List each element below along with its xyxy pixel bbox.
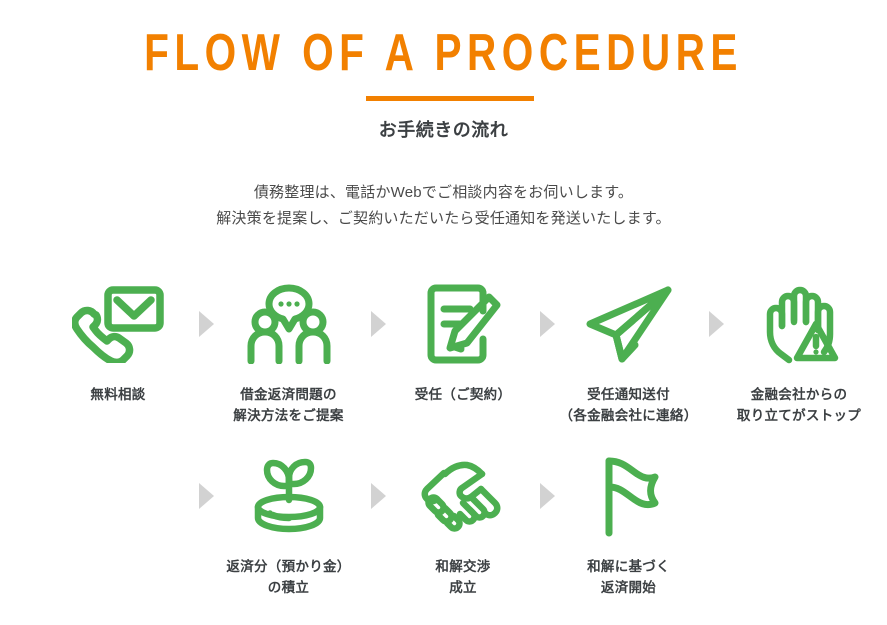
flow-step-send-notice: 受任通知送付 （各金融会社に連絡） — [556, 278, 701, 426]
flow-step-label: 借金返済問題の 解決方法をご提案 — [216, 384, 361, 426]
lead-paragraph: 債務整理は、電話かWebでご相談内容をお伺いします。 解決策を提案し、ご契約いた… — [0, 180, 887, 232]
flow-arrow-6 — [371, 483, 386, 509]
flow-arrow-5 — [199, 483, 214, 509]
sprout-pot-icon — [216, 450, 361, 542]
flow-step-label: 和解交渉 成立 — [396, 556, 530, 598]
lead-line-2: 解決策を提案し、ご契約いただいたら受任通知を発送いたします。 — [0, 206, 887, 232]
flow-arrow-4 — [709, 311, 724, 337]
flow-arrow-7 — [540, 483, 555, 509]
flow-step-repayment-savings: 返済分（預かり金） の積立 — [216, 450, 361, 598]
flow-step-settlement-agreed: 和解交渉 成立 — [396, 450, 530, 598]
phone-envelope-icon — [38, 278, 198, 370]
document-pencil-icon — [396, 278, 530, 370]
flow-arrow-3 — [540, 311, 555, 337]
flow-step-label: 受任通知送付 （各金融会社に連絡） — [556, 384, 701, 426]
page-subtitle: お手続きの流れ — [0, 116, 887, 144]
flow-arrow-2 — [371, 311, 386, 337]
flow-step-free-consultation: 無料相談 — [38, 278, 198, 405]
flow-step-repayment-start: 和解に基づく 返済開始 — [556, 450, 701, 598]
flow-step-label: 金融会社からの 取り立てがストップ — [725, 384, 873, 426]
flow-step-label: 和解に基づく 返済開始 — [556, 556, 701, 598]
page-title: FLOW OF A PROCEDURE — [98, 22, 790, 84]
stop-hand-warning-icon — [725, 278, 873, 370]
handshake-icon — [396, 450, 530, 542]
flow-step-label: 無料相談 — [38, 384, 198, 405]
paper-plane-icon — [556, 278, 701, 370]
flow-step-collection-stops: 金融会社からの 取り立てがストップ — [725, 278, 873, 426]
procedure-flow-page: FLOW OF A PROCEDURE お手続きの流れ 債務整理は、電話かWeb… — [0, 0, 887, 625]
flag-icon — [556, 450, 701, 542]
flow-step-acceptance-contract: 受任（ご契約） — [396, 278, 530, 405]
flow-arrow-1 — [199, 311, 214, 337]
two-people-speech-bubble-icon — [216, 278, 361, 370]
flow-step-propose-solution: 借金返済問題の 解決方法をご提案 — [216, 278, 361, 426]
title-underline-rule — [366, 96, 534, 101]
flow-step-label: 受任（ご契約） — [396, 384, 530, 405]
flow-step-label: 返済分（預かり金） の積立 — [216, 556, 361, 598]
lead-line-1: 債務整理は、電話かWebでご相談内容をお伺いします。 — [0, 180, 887, 206]
